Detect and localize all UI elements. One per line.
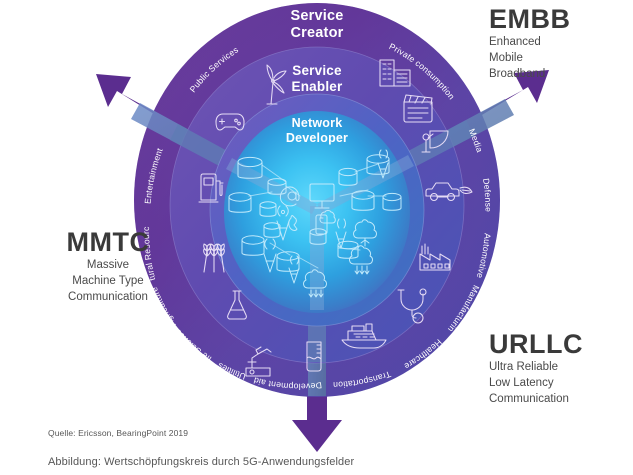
ring-title-line-1: Service <box>257 63 377 79</box>
mmtc-acronym: MMTC <box>34 228 182 256</box>
mmtc-expansion-line-1: Massive <box>34 258 182 274</box>
ring-title-line-1: Service <box>257 8 377 25</box>
ring-title-line-1: Network <box>253 116 381 131</box>
urllc-acronym: URLLC <box>489 330 583 358</box>
mmtc-expansion-line-2: Machine Type <box>34 274 182 290</box>
ring-title-service-enabler: Service Enabler <box>257 63 377 95</box>
label-embb: EMBB Enhanced Mobile Broadband <box>489 5 571 83</box>
figure-caption: Abbildung: Wertschöpfungskreis durch 5G-… <box>48 456 354 468</box>
source-note: Quelle: Ericsson, BearingPoint 2019 <box>48 428 188 438</box>
mmtc-expansion: Massive Machine Type Communication <box>34 258 182 306</box>
ring-title-line-2: Enabler <box>257 79 377 95</box>
embb-expansion: Enhanced Mobile Broadband <box>489 35 571 83</box>
ring-title-service-creator: Service Creator <box>257 8 377 42</box>
ring-title-line-2: Creator <box>257 25 377 42</box>
label-mmtc: MMTC Massive Machine Type Communication <box>34 228 182 306</box>
mmtc-expansion-line-3: Communication <box>34 290 182 306</box>
urllc-expansion-line-1: Ultra Reliable <box>489 360 583 376</box>
urllc-expansion-line-2: Low Latency <box>489 376 583 392</box>
embb-expansion-line-2: Mobile <box>489 51 571 67</box>
embb-acronym: EMBB <box>489 5 571 33</box>
embb-expansion-line-3: Broadband <box>489 67 571 83</box>
urllc-expansion: Ultra Reliable Low Latency Communication <box>489 360 583 408</box>
ring-title-line-2: Developer <box>253 131 381 146</box>
urllc-expansion-line-3: Communication <box>489 392 583 408</box>
label-urllc: URLLC Ultra Reliable Low Latency Communi… <box>489 330 583 408</box>
ring-title-network-developer: Network Developer <box>253 116 381 146</box>
embb-expansion-line-1: Enhanced <box>489 35 571 51</box>
diagram-canvas: Public Services Entertainment Natural Re… <box>0 0 633 475</box>
